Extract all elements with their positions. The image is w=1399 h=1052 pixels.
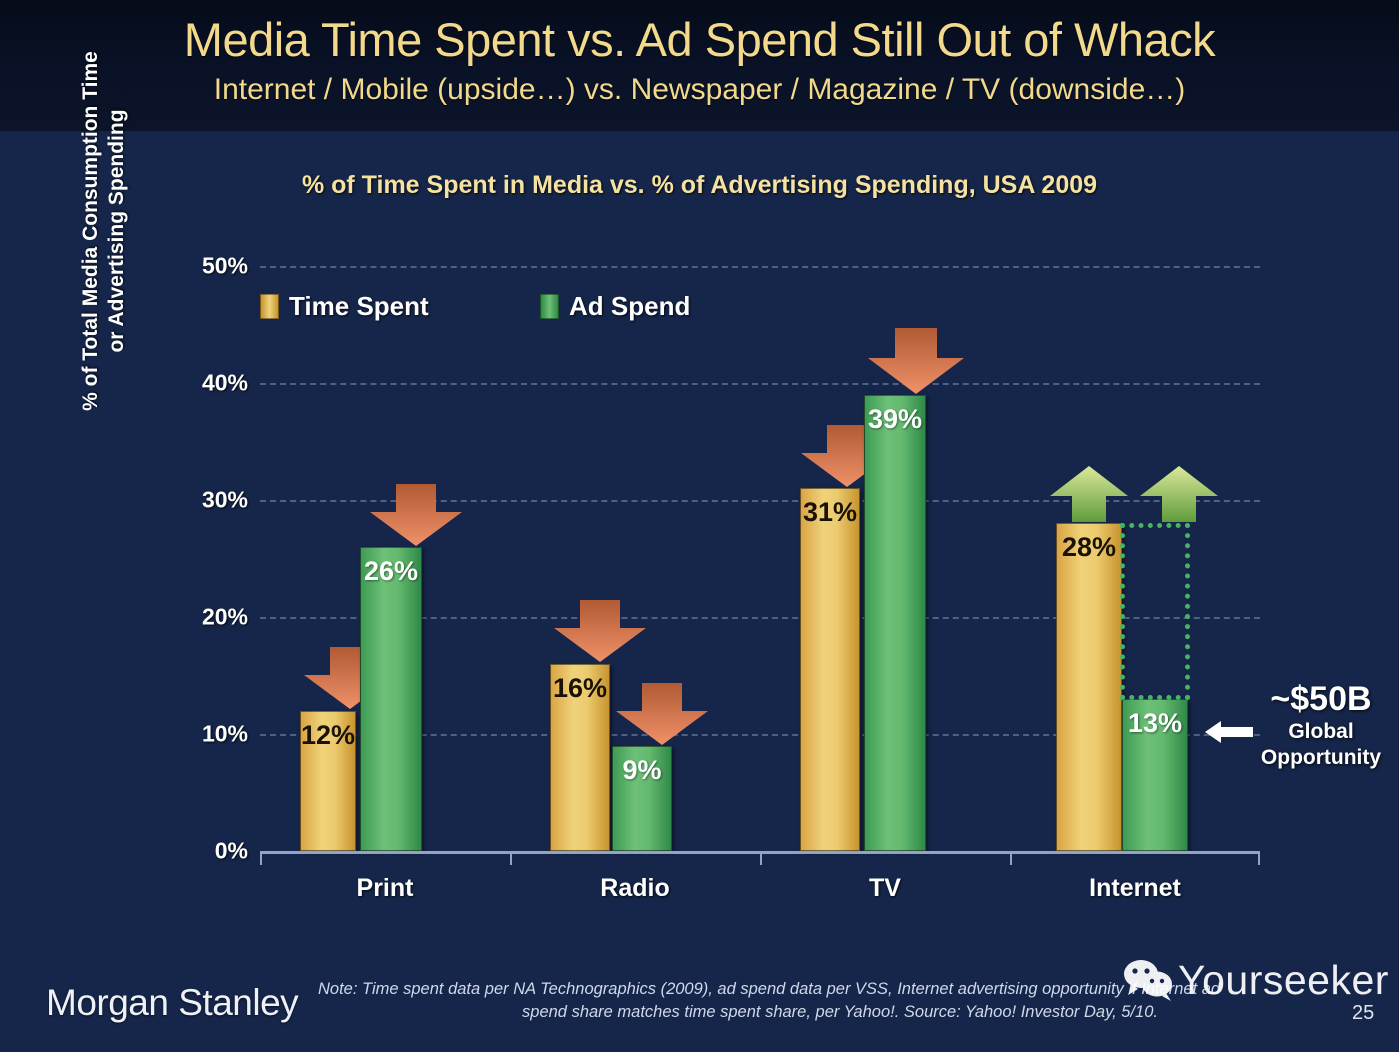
y-tick-0: 0% [215,838,248,865]
arrow-down-tv-ad-wrap [868,328,964,399]
y-tick-30: 30% [202,487,248,514]
y-tick-20: 20% [202,604,248,631]
bar-print-ad-spend[interactable]: 26% [360,547,422,851]
arrow-down-radio-time-wrap [554,600,646,667]
slide-header-band: Media Time Spent vs. Ad Spend Still Out … [0,0,1399,131]
arrow-up-internet-time-icon [1050,466,1128,522]
bar-label-print-time-spent: 12% [301,720,355,751]
y-tick-50: 50% [202,253,248,280]
morgan-stanley-logo: Morgan Stanley [46,982,298,1024]
slide-title: Media Time Spent vs. Ad Spend Still Out … [0,12,1399,67]
y-axis-title-line1: % of Total Media Consumption Time [78,21,104,441]
category-label-tv: TV [869,874,901,903]
bar-tv-time-spent[interactable]: 31% [800,488,860,851]
bar-label-print-ad-spend: 26% [361,556,421,587]
slide-subtitle: Internet / Mobile (upside…) vs. Newspape… [0,73,1399,107]
callout-headline: ~$50B [1243,679,1399,719]
bar-radio-time-spent[interactable]: 16% [550,664,610,851]
category-label-print: Print [357,874,414,903]
opportunity-gap-box [1120,523,1190,700]
arrow-down-radio-ad-icon [616,683,708,745]
slide-body: % of Time Spent in Media vs. % of Advert… [0,131,1399,1052]
callout-line3: Opportunity [1243,745,1399,771]
bar-label-internet-ad-spend: 13% [1123,708,1187,739]
arrow-down-tv-ad-icon [868,328,964,394]
gridline-40 [260,383,1260,385]
chart-title: % of Time Spent in Media vs. % of Advert… [0,171,1399,200]
x-tick-2 [760,851,762,865]
arrow-up-internet-time-wrap [1050,466,1128,527]
x-axis-left-cap [260,851,262,865]
global-opportunity-callout: ~$50B Global Opportunity [1243,679,1399,771]
arrow-down-radio-ad-wrap [616,683,708,750]
plot-area: 50% 40% 30% 20% 10% 0% 12% 26% [260,266,1260,851]
bar-internet-ad-spend[interactable]: 13% [1122,699,1188,851]
bar-internet-time-spent[interactable]: 28% [1056,523,1122,851]
page-number: 25 [1352,1002,1374,1025]
arrow-down-print-ad-icon [370,484,462,546]
footnote-line2: spend share matches time spent share, pe… [300,1001,1320,1024]
y-tick-40: 40% [202,370,248,397]
gridline-50 [260,266,1260,268]
category-label-internet: Internet [1089,874,1181,903]
bar-label-radio-time-spent: 16% [551,673,609,704]
bar-label-radio-ad-spend: 9% [613,755,671,786]
bar-tv-ad-spend[interactable]: 39% [864,395,926,851]
arrow-up-internet-ad-icon [1140,466,1218,522]
arrow-down-radio-time-icon [554,600,646,662]
x-axis-right-cap [1258,851,1260,865]
x-tick-3 [1010,851,1012,865]
y-tick-10: 10% [202,721,248,748]
y-axis-title-line2: or Advertising Spending [104,21,130,441]
bar-radio-ad-spend[interactable]: 9% [612,746,672,851]
watermark: Yourseeker [1122,958,1389,1002]
bar-label-tv-ad-spend: 39% [865,404,925,435]
bar-print-time-spent[interactable]: 12% [300,711,356,851]
wechat-icon [1122,958,1174,1002]
category-label-radio: Radio [600,874,669,903]
bar-label-tv-time-spent: 31% [801,497,859,528]
callout-line2: Global [1243,719,1399,745]
arrow-up-internet-ad-wrap [1140,466,1218,527]
x-tick-1 [510,851,512,865]
y-axis-title: % of Total Media Consumption Time or Adv… [78,21,118,441]
bar-label-internet-time-spent: 28% [1057,532,1121,563]
arrow-down-print-ad-wrap [370,484,462,551]
watermark-text: Yourseeker [1178,960,1389,1001]
